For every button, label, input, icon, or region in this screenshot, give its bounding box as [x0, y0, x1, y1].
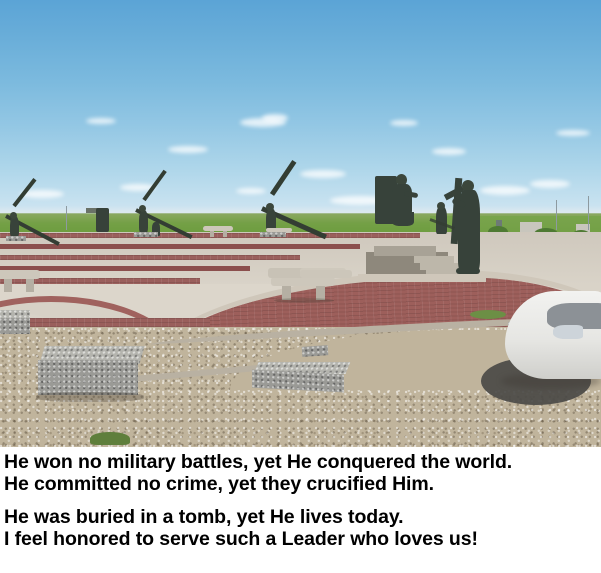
sculpture-base-1 — [6, 236, 26, 241]
cross-sculpture-1-head — [10, 212, 17, 219]
stone-bench-1-shadow — [274, 298, 334, 303]
main-sculpture-pedestal-step-1 — [414, 256, 454, 263]
cross-sculpture-2-figure — [139, 210, 148, 234]
page-root: He won no military battles, yet He conqu… — [0, 0, 601, 573]
plaza-step-band — [0, 255, 300, 260]
cloud — [300, 170, 346, 178]
caption-line-4: I feel honored to serve such a Leader wh… — [4, 528, 601, 550]
stone-bench-1-seat — [271, 277, 335, 286]
cloud — [86, 118, 116, 124]
memorial-photograph — [0, 0, 601, 447]
stone-bench-2-seat — [203, 226, 233, 231]
sculpture-base-3 — [260, 232, 286, 237]
stone-bench-2-leg — [210, 231, 214, 237]
plaza-step-band — [0, 244, 360, 249]
stone-bench-7-seat — [300, 270, 352, 278]
park-receptacle — [96, 208, 109, 232]
caption-line-1: He won no military battles, yet He conqu… — [4, 451, 601, 473]
standing-figure-feet — [456, 268, 480, 274]
parked-car-headlight — [553, 325, 583, 339]
grass-tuft — [90, 432, 130, 445]
stone-bench-4-seat — [0, 270, 40, 279]
cross-sculpture-1-figure — [10, 216, 19, 238]
seated-figure-body — [392, 184, 412, 214]
sculpture-base-2 — [134, 232, 158, 237]
caption-block: He won no military battles, yet He conqu… — [0, 447, 601, 573]
stone-bench-4-leg — [26, 279, 34, 292]
stone-bench-3-seat — [266, 228, 292, 232]
stone-bench-2-leg — [223, 231, 227, 237]
granite-block-1-front — [38, 360, 138, 395]
sky — [0, 0, 601, 216]
cloud — [556, 130, 590, 136]
utility-pole — [588, 196, 589, 230]
granite-block-6 — [302, 345, 329, 357]
granite-block-2-front — [0, 318, 30, 334]
caption-paragraph-gap — [4, 495, 601, 506]
cloud — [432, 148, 466, 155]
caption-line-3: He was buried in a tomb, yet He lives to… — [4, 506, 601, 528]
cloud — [262, 114, 288, 122]
main-sculpture-pedestal-mid — [374, 246, 436, 256]
cross-sculpture-2-head — [139, 205, 146, 212]
cloud — [168, 146, 208, 153]
cloud — [530, 180, 570, 188]
main-sculpture-apron — [358, 274, 486, 282]
cross-sculpture-3-head — [266, 203, 274, 211]
caption-line-2: He committed no crime, yet they crucifie… — [4, 473, 601, 495]
granite-block-1-shadow — [36, 392, 144, 402]
grass-tuft — [470, 310, 506, 319]
seated-figure-legs — [392, 212, 414, 226]
cloud — [390, 120, 418, 126]
stone-bench-4-leg — [4, 279, 12, 292]
utility-pole — [556, 200, 557, 230]
cloud — [236, 188, 266, 194]
kneeling-figure-head — [437, 202, 445, 210]
utility-pole — [66, 206, 67, 230]
cloud — [480, 186, 530, 195]
